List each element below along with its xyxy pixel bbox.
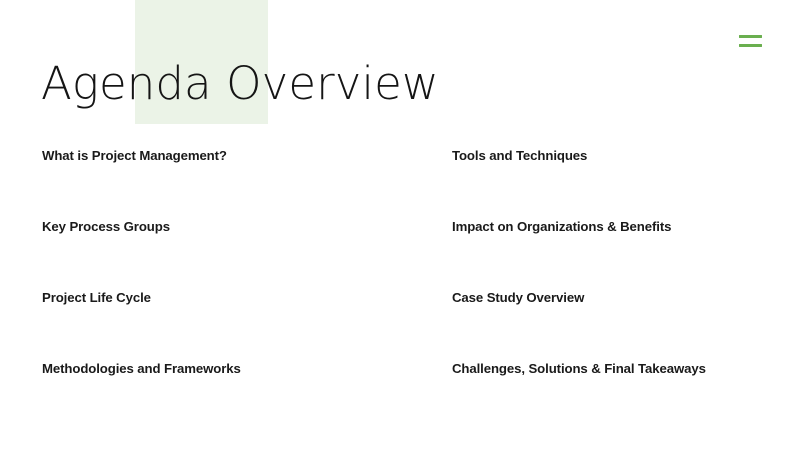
agenda-slide: Agenda Overview What is Project Manageme… (0, 0, 800, 450)
agenda-column-right: Tools and Techniques Impact on Organizat… (452, 148, 782, 432)
agenda-item-what-is-project-management[interactable]: What is Project Management? (42, 148, 442, 219)
agenda-column-left: What is Project Management? Key Process … (42, 148, 442, 432)
agenda-item-methodologies-and-frameworks[interactable]: Methodologies and Frameworks (42, 361, 442, 432)
hamburger-bar-bottom (739, 44, 762, 47)
agenda-item-case-study-overview[interactable]: Case Study Overview (452, 290, 782, 361)
page-title: Agenda Overview (41, 58, 439, 110)
hamburger-menu-icon[interactable] (739, 34, 762, 47)
agenda-item-key-process-groups[interactable]: Key Process Groups (42, 219, 442, 290)
agenda-item-tools-and-techniques[interactable]: Tools and Techniques (452, 148, 782, 219)
agenda-item-impact-on-organizations-and-benefits[interactable]: Impact on Organizations & Benefits (452, 219, 782, 290)
agenda-item-challenges-solutions-final-takeaways[interactable]: Challenges, Solutions & Final Takeaways (452, 361, 782, 432)
agenda-item-project-life-cycle[interactable]: Project Life Cycle (42, 290, 442, 361)
hamburger-bar-top (739, 35, 762, 38)
